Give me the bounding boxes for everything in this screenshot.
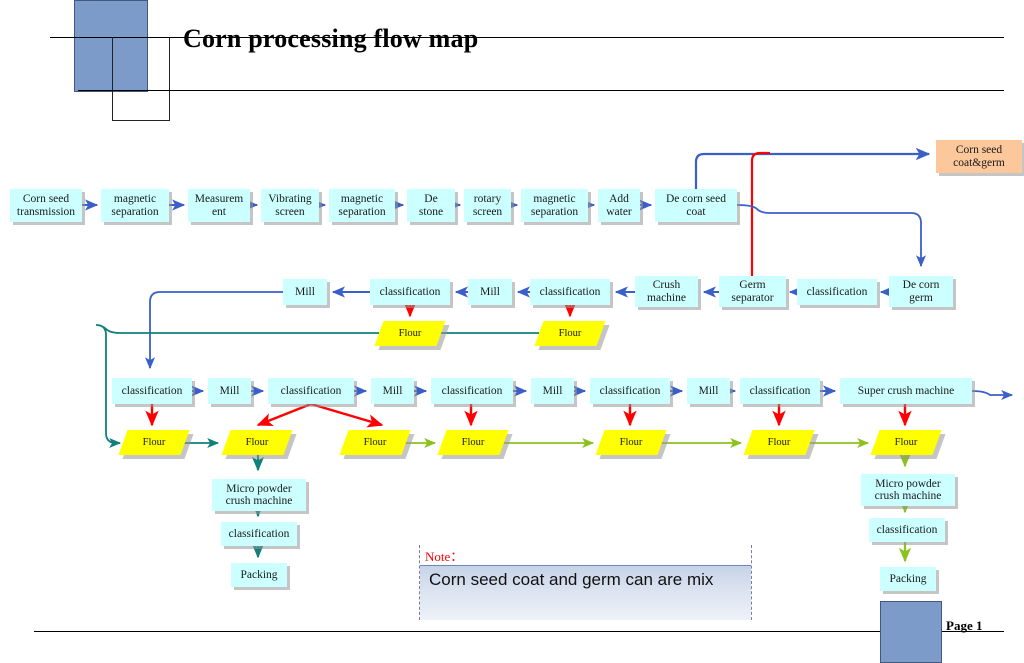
flour-label: Flour [539, 321, 601, 346]
node-label: classification [877, 524, 938, 537]
node-label: Packing [889, 573, 926, 586]
flour-label: Flour [123, 430, 185, 455]
node-classification-r2-2[interactable]: classification [530, 279, 610, 305]
node-label: classification [281, 385, 342, 398]
node-add-water[interactable]: Addwater [598, 189, 640, 222]
red-split-right [311, 404, 382, 425]
node-label: magneticseparation [531, 193, 578, 218]
node-label: rotaryscreen [473, 193, 502, 218]
flour-node-flour-r3-6[interactable]: Flour [748, 430, 810, 455]
flour-node-flour-r3-2[interactable]: Flour [226, 430, 288, 455]
flour-node-flour-r3-3[interactable]: Flour [344, 430, 406, 455]
node-packing-left[interactable]: Packing [231, 563, 287, 587]
node-magnetic-separation-3[interactable]: magneticseparation [521, 189, 588, 222]
node-label: classification [229, 528, 290, 541]
node-classification-r3-5[interactable]: classification [740, 378, 820, 404]
flour-label: Flour [875, 430, 937, 455]
node-mill-r3-1[interactable]: Mill [208, 378, 251, 404]
node-label: classification [600, 385, 661, 398]
node-label: Mill [699, 385, 719, 398]
flour-node-flour-r2-2[interactable]: Flour [539, 321, 601, 346]
flour-node-flour-r2-1[interactable]: Flour [379, 321, 441, 346]
node-classification-r3-4[interactable]: classification [590, 378, 670, 404]
wire-mill-to-row3 [150, 292, 283, 368]
node-label: classification [442, 385, 503, 398]
node-classification-r2-1[interactable]: classification [370, 279, 450, 305]
flour-label: Flour [226, 430, 288, 455]
node-micro-powder-crush-machine-left[interactable]: Micro powdercrush machine [212, 479, 306, 511]
node-classification-r3-1[interactable]: classification [112, 378, 192, 404]
node-label: De corn seedcoat [666, 193, 726, 218]
flour-label: Flour [379, 321, 441, 346]
node-mill-r2-2[interactable]: Mill [468, 279, 512, 305]
note-label: Note： [425, 546, 463, 565]
node-mill-r2-1[interactable]: Mill [283, 279, 327, 305]
node-label: Super crush machine [858, 385, 954, 398]
node-label: Destone [419, 193, 443, 218]
node-label: Micro powdercrush machine [226, 483, 293, 508]
flour-node-flour-r3-4[interactable]: Flour [442, 430, 504, 455]
flour-label: Flour [344, 430, 406, 455]
node-corn-seed-transmission[interactable]: Corn seedtransmission [10, 189, 82, 222]
node-micro-powder-crush-machine-right[interactable]: Micro powdercrush machine [861, 474, 955, 506]
node-magnetic-separation-2[interactable]: magneticseparation [329, 189, 395, 222]
node-label: classification [750, 385, 811, 398]
note-text: Corn seed coat and germ can are mix [429, 570, 713, 590]
node-label: De corngerm [903, 279, 940, 304]
node-label: Germseparator [731, 279, 773, 304]
node-classification-r3-2[interactable]: classification [268, 378, 354, 404]
flour-node-flour-r3-1[interactable]: Flour [123, 430, 185, 455]
node-label: magneticseparation [111, 193, 158, 218]
node-corn-seed-coat-germ[interactable]: Corn seedcoat&germ [936, 140, 1022, 173]
node-crush-machine[interactable]: Crushmachine [635, 276, 698, 307]
node-mill-r3-4[interactable]: Mill [687, 378, 730, 404]
node-classification-left-branch[interactable]: classification [221, 522, 297, 546]
node-classification-r3-3[interactable]: classification [431, 378, 513, 404]
flour-node-flour-r3-5[interactable]: Flour [600, 430, 662, 455]
node-label: Corn seedcoat&germ [953, 144, 1005, 169]
node-classification-right-branch[interactable]: classification [869, 518, 945, 542]
node-label: Mill [220, 385, 240, 398]
wire-germ-to-output [752, 153, 770, 276]
wire-coat-to-output [696, 154, 929, 189]
flour-label: Flour [600, 430, 662, 455]
node-label: Mill [543, 385, 563, 398]
node-label: Corn seedtransmission [17, 193, 75, 218]
node-super-crush-machine[interactable]: Super crush machine [840, 378, 972, 404]
node-rotary-screen[interactable]: rotaryscreen [464, 189, 511, 222]
row2-red-drops [410, 305, 570, 316]
node-label: Packing [240, 569, 277, 582]
node-label: classification [122, 385, 183, 398]
node-label: Measurement [195, 193, 244, 218]
wire-coat-to-de-corn-germ [737, 205, 921, 266]
node-label: Crushmachine [647, 279, 686, 304]
node-classification-r2-3[interactable]: classification [797, 279, 877, 305]
node-magnetic-separation-1[interactable]: magneticseparation [101, 189, 169, 222]
node-label: classification [540, 286, 601, 299]
node-label: classification [380, 286, 441, 299]
node-label: Mill [383, 385, 403, 398]
node-measurement[interactable]: Measurement [188, 189, 250, 222]
node-label: Mill [480, 286, 500, 299]
flour-label: Flour [748, 430, 810, 455]
flour-label: Flour [442, 430, 504, 455]
node-label: classification [807, 286, 868, 299]
node-de-corn-germ[interactable]: De corngerm [889, 276, 953, 307]
red-split-left [258, 404, 311, 425]
flour-node-flour-r3-7[interactable]: Flour [875, 430, 937, 455]
node-mill-r3-2[interactable]: Mill [371, 378, 414, 404]
node-de-stone[interactable]: Destone [407, 189, 455, 222]
node-germ-separator[interactable]: Germseparator [719, 276, 786, 307]
node-label: Vibratingscreen [268, 193, 311, 218]
slide-canvas: Corn processing flow map Page 1 [0, 0, 1024, 661]
node-de-corn-seed-coat[interactable]: De corn seedcoat [655, 189, 737, 222]
node-mill-r3-3[interactable]: Mill [531, 378, 574, 404]
node-label: magneticseparation [338, 193, 385, 218]
wire-supercrush-out [972, 391, 1012, 395]
node-vibrating-screen[interactable]: Vibratingscreen [261, 189, 319, 222]
node-packing-right[interactable]: Packing [880, 567, 936, 591]
node-label: Micro powdercrush machine [875, 478, 942, 503]
node-label: Addwater [606, 193, 632, 218]
node-label: Mill [295, 286, 315, 299]
